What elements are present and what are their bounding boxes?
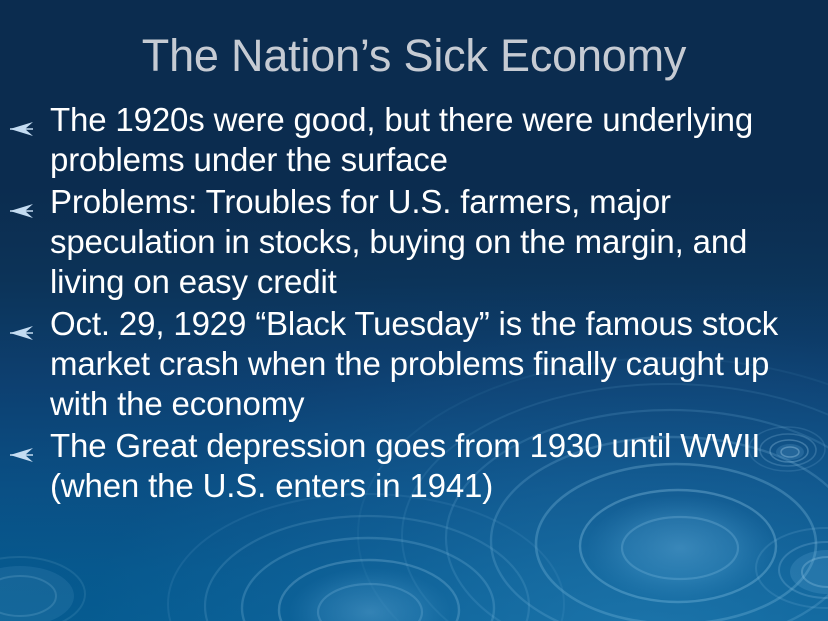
bullet-text: Oct. 29, 1929 “Black Tuesday” is the fam…: [50, 304, 812, 424]
slide-title: The Nation’s Sick Economy: [0, 33, 828, 80]
bullet-list: The 1920s were good, but there were unde…: [0, 100, 828, 508]
arrow-bullet-icon: [8, 191, 40, 213]
bullet-text: The 1920s were good, but there were unde…: [50, 100, 812, 180]
bullet-item: The 1920s were good, but there were unde…: [0, 100, 828, 180]
bullet-item: Problems: Troubles for U.S. farmers, maj…: [0, 182, 828, 302]
arrow-bullet-icon: [8, 109, 40, 131]
arrow-bullet-icon: [8, 435, 40, 457]
bullet-text: Problems: Troubles for U.S. farmers, maj…: [50, 182, 812, 302]
bullet-text: The Great depression goes from 1930 unti…: [50, 426, 812, 506]
presentation-slide: The Nation’s Sick Economy The 1920s were…: [0, 0, 828, 621]
slide-content: The Nation’s Sick Economy The 1920s were…: [0, 0, 828, 621]
arrow-bullet-icon: [8, 313, 40, 335]
bullet-item: Oct. 29, 1929 “Black Tuesday” is the fam…: [0, 304, 828, 424]
bullet-item: The Great depression goes from 1930 unti…: [0, 426, 828, 506]
